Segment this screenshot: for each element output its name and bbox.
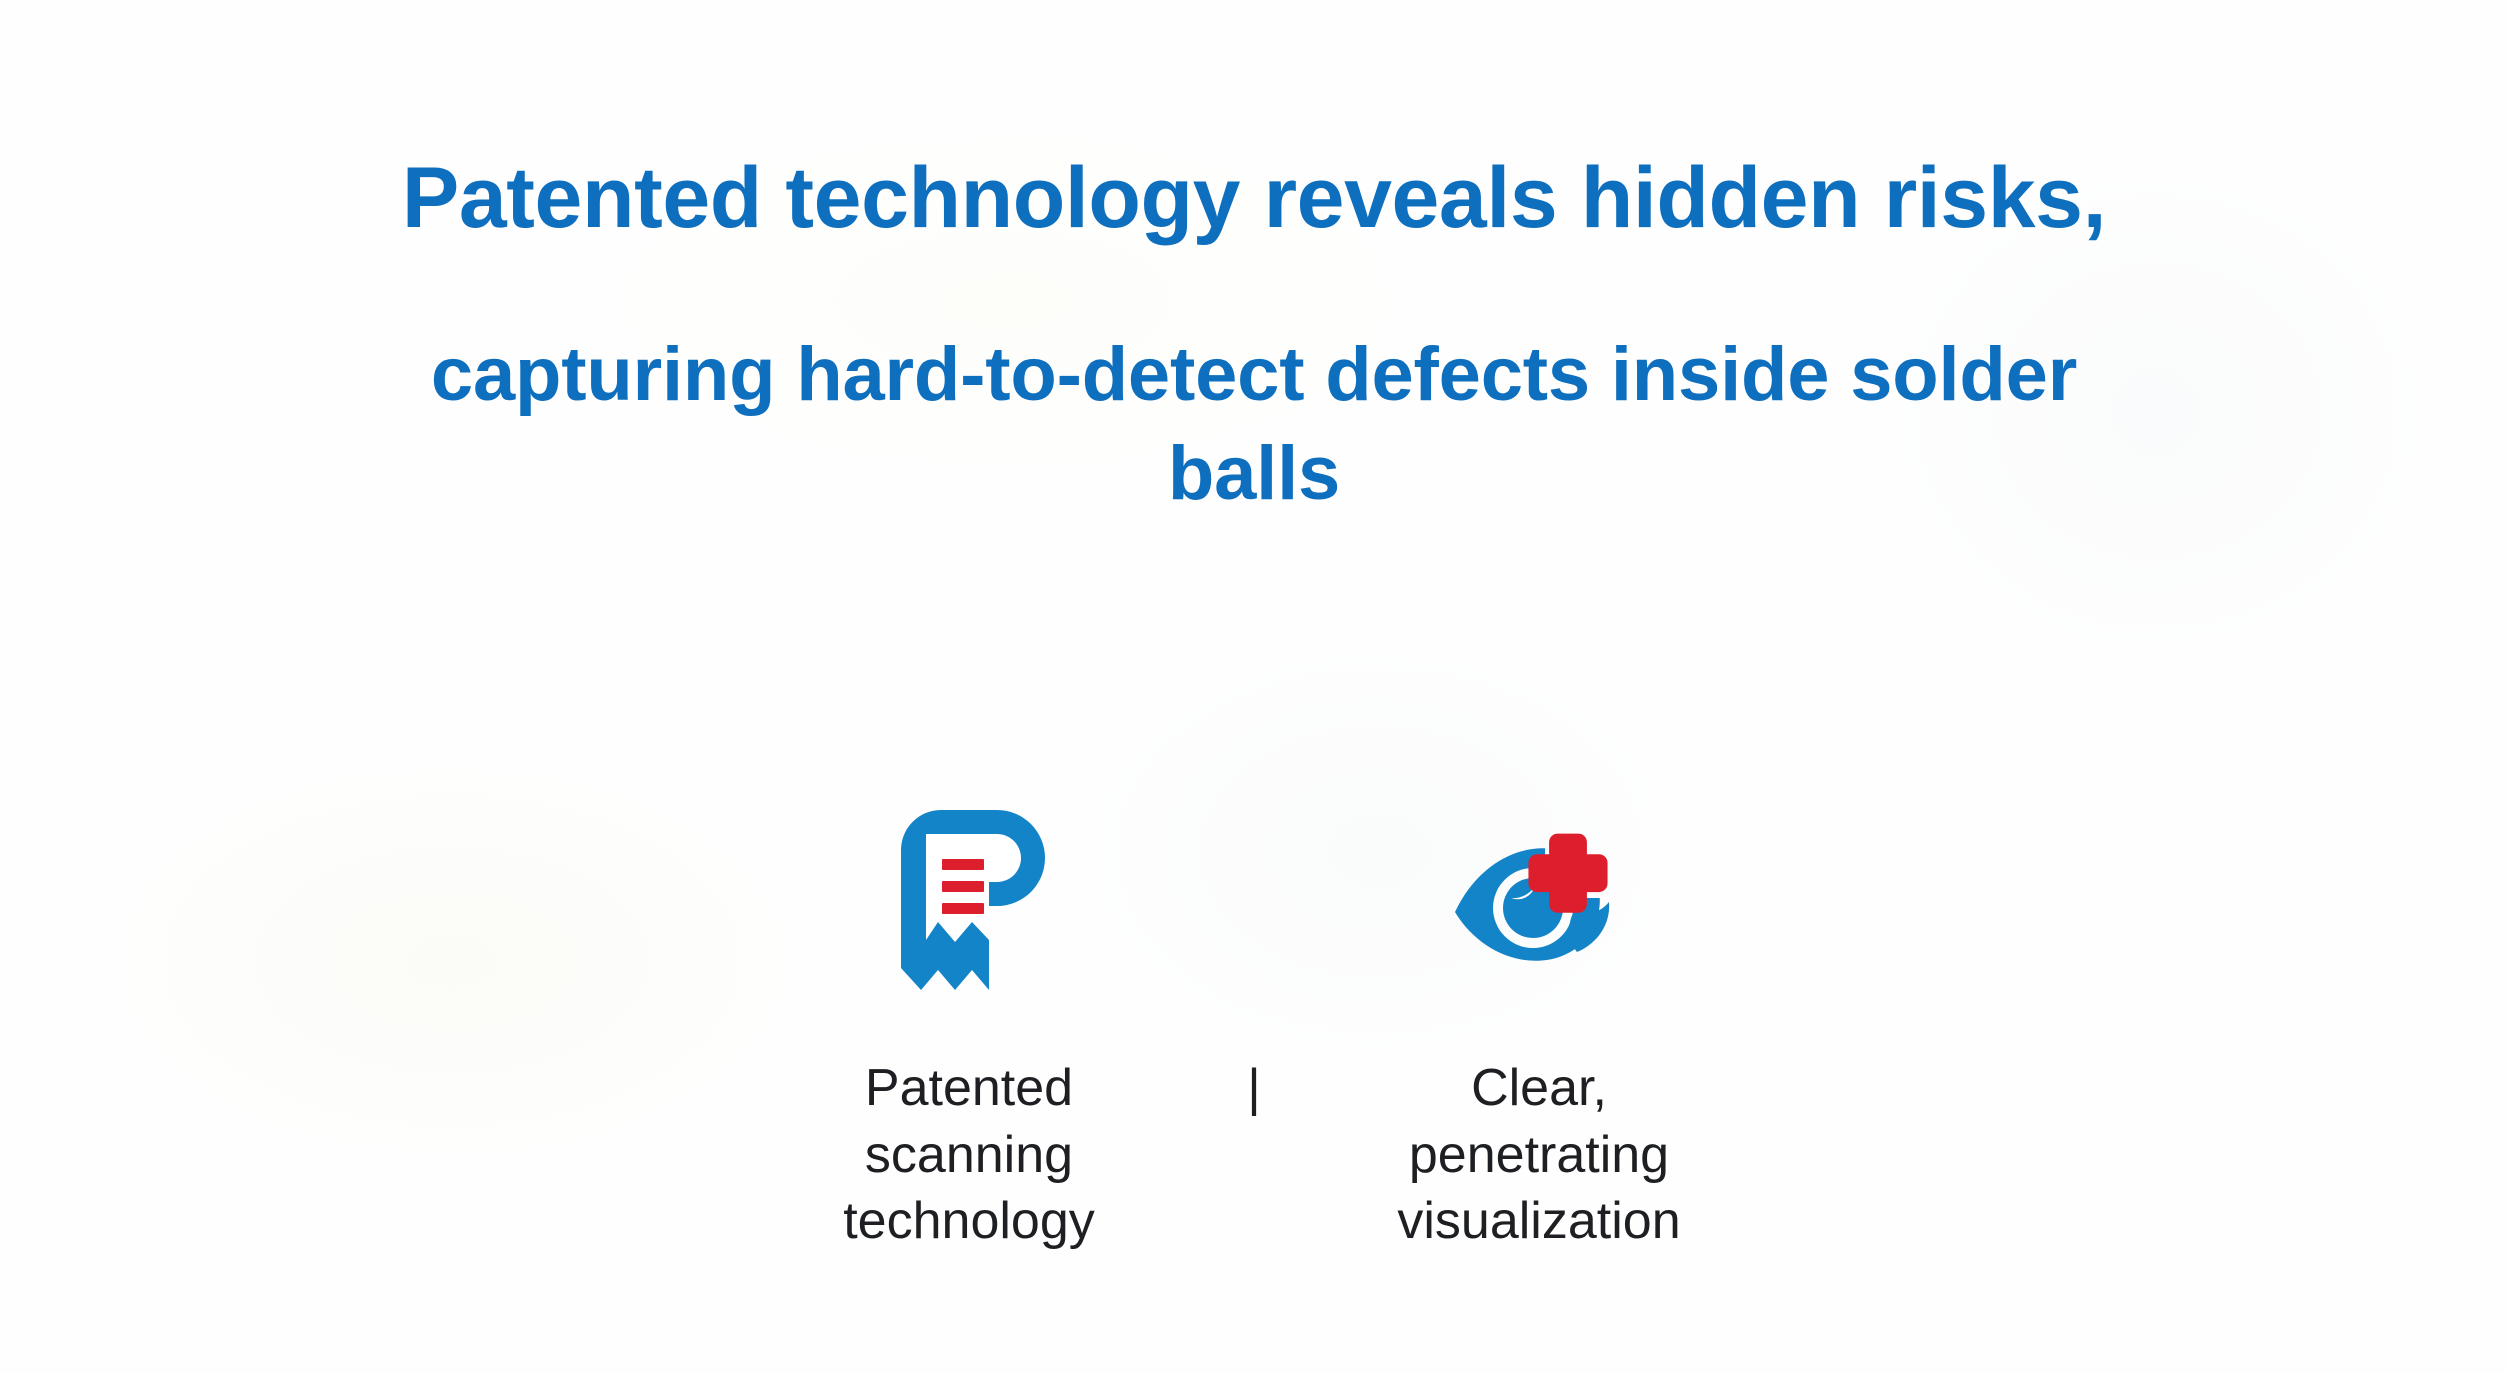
eye-plus-vision-icon [1449,800,1629,1000]
heading-line-2: capturing hard-to-detect defects inside … [414,326,2094,524]
feature-divider: | [1204,1055,1304,1122]
heading-line-1: Patented technology reveals hidden risks… [0,150,2508,246]
slide-canvas: Patented technology reveals hidden risks… [0,0,2508,1373]
divider-glyph: | [1247,1055,1261,1122]
patented-document-scan-icon [879,800,1059,1000]
feature-clear-visualization: Clear, penetrating visualization [1304,800,1774,1255]
feature-patented-scanning: Patented scanning technology [734,800,1204,1255]
feature-row: Patented scanning technology | [0,800,2508,1255]
feature-caption: Clear, penetrating visualization [1384,1055,1694,1255]
feature-caption: Patented scanning technology [759,1055,1179,1255]
page-title: Patented technology reveals hidden risks… [0,150,2508,524]
